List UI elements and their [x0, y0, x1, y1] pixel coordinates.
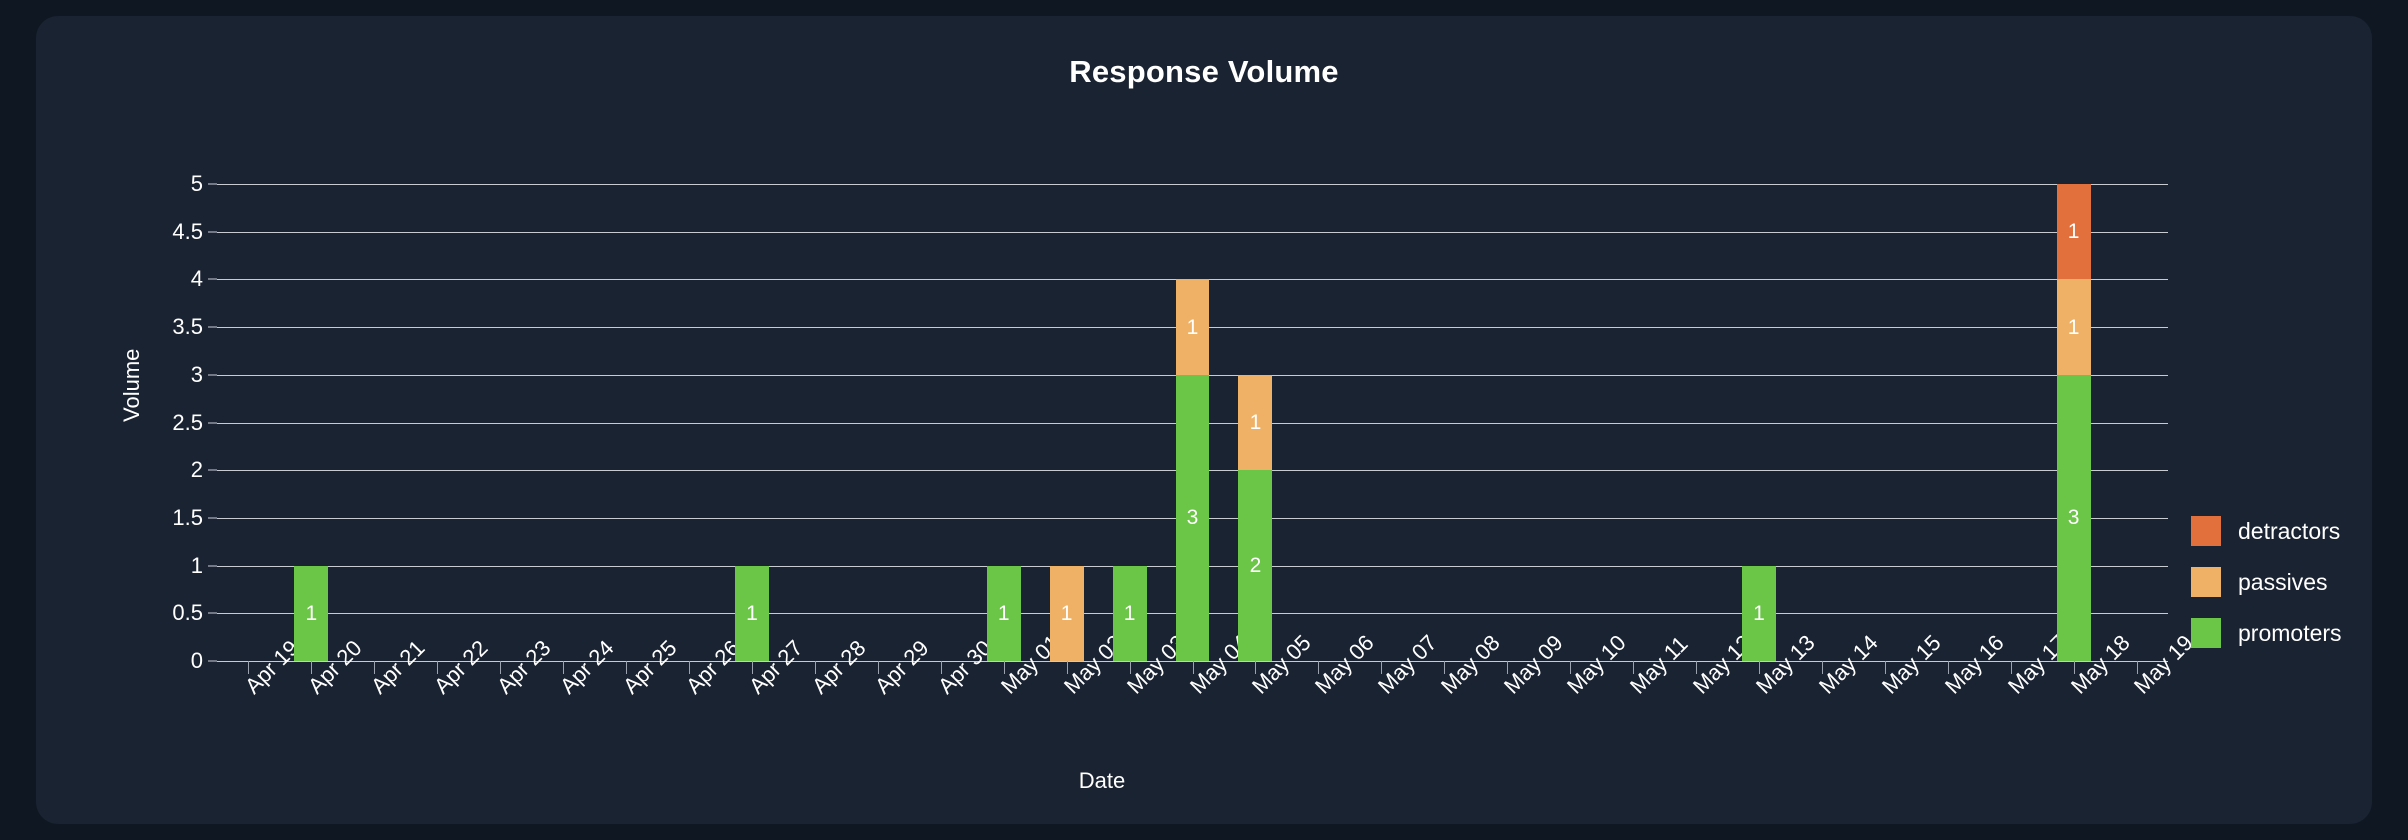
bar-segment-passives[interactable]: 1: [1176, 279, 1210, 374]
x-tick-label: May 14: [1814, 630, 1883, 699]
x-tick-label: Apr 22: [429, 635, 493, 699]
y-tick-mark: [208, 422, 217, 423]
x-axis-title: Date: [36, 768, 2168, 794]
y-tick-label: 2: [191, 457, 203, 483]
y-tick-mark: [208, 517, 217, 518]
chart-legend: detractorspassivespromoters: [2191, 516, 2342, 648]
y-tick-label: 4: [191, 266, 203, 292]
x-tick-label: May 16: [1940, 630, 2009, 699]
y-tick-mark: [208, 613, 217, 614]
legend-item-detractors[interactable]: detractors: [2191, 516, 2342, 546]
x-tick-label: May 06: [1310, 630, 1379, 699]
bar-group[interactable]: 1: [1050, 566, 1084, 661]
y-tick-label: 4.5: [172, 219, 203, 245]
y-gridline: [217, 232, 2168, 233]
y-tick-label: 3: [191, 362, 203, 388]
y-tick-label: 0: [191, 648, 203, 674]
bar-segment-passives[interactable]: 1: [1238, 375, 1272, 470]
y-tick-mark: [208, 279, 217, 280]
bar-segment-detractors[interactable]: 1: [2057, 184, 2091, 279]
bar-segment-promoters[interactable]: 1: [987, 566, 1021, 661]
bar-group[interactable]: 1: [294, 566, 328, 661]
x-tick-label: Apr 23: [492, 635, 556, 699]
bar-segment-passives[interactable]: 1: [1050, 566, 1084, 661]
bar-segment-promoters[interactable]: 1: [1742, 566, 1776, 661]
bar-segment-passives[interactable]: 1: [2057, 279, 2091, 374]
y-tick-mark: [208, 184, 217, 185]
x-tick-label: Apr 29: [870, 635, 934, 699]
bar-group[interactable]: 1: [1113, 566, 1147, 661]
bar-group[interactable]: 311: [2057, 184, 2091, 661]
legend-label: promoters: [2238, 620, 2342, 647]
x-tick-label: Apr 21: [366, 635, 430, 699]
bar-segment-promoters[interactable]: 2: [1238, 470, 1272, 661]
legend-item-promoters[interactable]: promoters: [2191, 618, 2342, 648]
bar-group[interactable]: 1: [735, 566, 769, 661]
x-tick-label: May 11: [1625, 631, 1693, 699]
x-tick-label: Apr 28: [807, 635, 871, 699]
y-tick-mark: [208, 231, 217, 232]
bar-group[interactable]: 1: [1742, 566, 1776, 661]
y-tick-mark: [208, 661, 217, 662]
x-tick-label: Apr 25: [618, 635, 682, 699]
legend-swatch-icon: [2191, 567, 2221, 597]
y-tick-mark: [208, 565, 217, 566]
legend-label: detractors: [2238, 518, 2340, 545]
y-tick-mark: [208, 374, 217, 375]
y-tick-label: 0.5: [172, 600, 203, 626]
bar-segment-promoters[interactable]: 1: [1113, 566, 1147, 661]
plot-area: 54.543.532.521.510.50Apr 191Apr 20Apr 21…: [217, 184, 2168, 661]
legend-label: passives: [2238, 569, 2327, 596]
x-tick-label: May 10: [1562, 630, 1631, 699]
bar-segment-promoters[interactable]: 1: [735, 566, 769, 661]
y-tick-label: 5: [191, 171, 203, 197]
legend-swatch-icon: [2191, 618, 2221, 648]
y-tick-mark: [208, 470, 217, 471]
legend-swatch-icon: [2191, 516, 2221, 546]
x-tick-label: May 08: [1436, 630, 1505, 699]
bar-group[interactable]: 1: [987, 566, 1021, 661]
bar-segment-promoters[interactable]: 1: [294, 566, 328, 661]
legend-item-passives[interactable]: passives: [2191, 567, 2342, 597]
y-gridline: [217, 184, 2168, 185]
y-tick-label: 1.5: [172, 505, 203, 531]
y-tick-label: 2.5: [172, 410, 203, 436]
y-tick-mark: [208, 327, 217, 328]
x-tick-label: May 15: [1877, 630, 1946, 699]
bar-group[interactable]: 21: [1238, 375, 1272, 661]
chart-title: Response Volume: [36, 54, 2372, 90]
x-tick-label: May 09: [1499, 630, 1568, 699]
bar-segment-promoters[interactable]: 3: [1176, 375, 1210, 661]
x-tick-label: May 19: [2129, 630, 2198, 699]
y-tick-label: 1: [191, 553, 203, 579]
bar-group[interactable]: 31: [1176, 279, 1210, 661]
x-tick-label: Apr 24: [555, 635, 619, 699]
bar-segment-promoters[interactable]: 3: [2057, 375, 2091, 661]
y-tick-label: 3.5: [172, 314, 203, 340]
x-tick-label: May 07: [1373, 630, 1442, 699]
y-axis-title: Volume: [119, 349, 145, 422]
chart-card: Response Volume Volume 54.543.532.521.51…: [36, 16, 2372, 824]
